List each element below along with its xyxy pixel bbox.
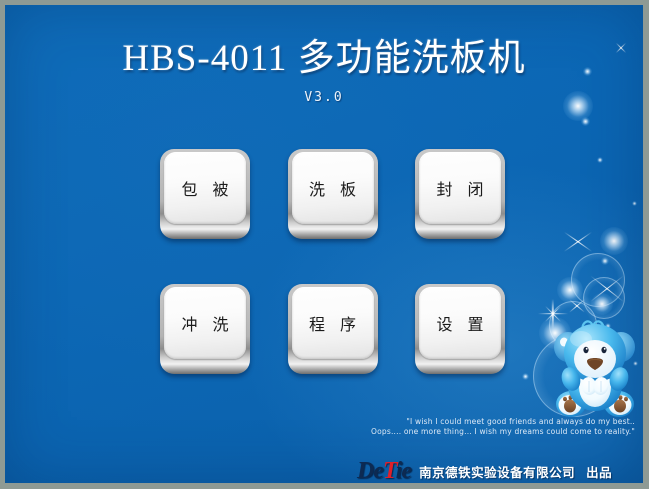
bubble-ring-icon	[571, 253, 625, 307]
bubble-glow-icon	[557, 277, 583, 303]
main-menu-grid: 包 被 洗 板 封 闭 冲 洗	[160, 149, 505, 374]
button-cap: 包 被	[164, 152, 246, 224]
coating-button[interactable]: 包 被	[160, 149, 250, 239]
settings-button[interactable]: 设 置	[415, 284, 505, 374]
menu-row-top: 包 被 洗 板 封 闭	[160, 149, 505, 239]
bubble-glow-icon	[522, 373, 529, 380]
decorative-quote: "I wish I could meet good friends and al…	[335, 417, 635, 437]
button-cap: 封 闭	[419, 152, 501, 224]
bubble-glow-icon	[605, 323, 611, 329]
wash-button-label: 洗 板	[304, 176, 361, 200]
button-cap: 设 置	[419, 287, 501, 359]
coating-button-label: 包 被	[176, 176, 233, 200]
page-title: HBS-4011 多功能洗板机	[5, 37, 643, 81]
bubble-glow-icon	[601, 257, 609, 265]
bubble-glow-icon	[591, 293, 613, 315]
splash-screen: HBS-4011 多功能洗板机 V3.0 包 被 洗 板 封 闭	[5, 5, 643, 483]
logo-t-text: T	[383, 458, 396, 483]
bubble-ring-icon	[583, 277, 625, 319]
wash-button[interactable]: 洗 板	[288, 149, 378, 239]
rinse-button[interactable]: 冲 洗	[160, 284, 250, 374]
button-cap: 程 序	[292, 287, 374, 359]
button-cap: 冲 洗	[164, 287, 246, 359]
company-suffix: 出品	[586, 462, 612, 481]
bubble-ring-icon	[549, 301, 597, 349]
bubble-glow-icon	[539, 317, 571, 349]
application-window: HBS-4011 多功能洗板机 V3.0 包 被 洗 板 封 闭	[0, 0, 649, 489]
program-button[interactable]: 程 序	[288, 284, 378, 374]
bubble-glow-icon	[597, 157, 603, 163]
title-block: HBS-4011 多功能洗板机 V3.0	[5, 37, 643, 105]
rinse-button-label: 冲 洗	[176, 311, 233, 335]
footer-brand: DeTie 南京德铁实验设备有限公司 出品	[357, 457, 637, 483]
quote-line-1: "I wish I could meet good friends and al…	[335, 417, 635, 427]
company-name: 南京德铁实验设备有限公司	[419, 462, 575, 481]
blocking-button-label: 封 闭	[431, 176, 488, 200]
sparkle-icon	[552, 313, 553, 314]
logo-ie-text: ie	[396, 458, 411, 483]
bubble-glow-icon	[633, 361, 638, 366]
settings-button-label: 设 置	[431, 311, 488, 335]
bubble-ring-icon	[533, 335, 615, 417]
detie-logo: DeTie	[357, 458, 411, 483]
blocking-button[interactable]: 封 闭	[415, 149, 505, 239]
bubble-glow-icon	[581, 117, 590, 126]
sparkle-icon	[577, 241, 578, 242]
sparkle-icon	[606, 288, 607, 289]
version-label: V3.0	[5, 90, 643, 105]
bubble-glow-icon	[566, 335, 573, 342]
menu-row-bottom: 冲 洗 程 序 设 置	[160, 284, 505, 374]
bubble-glow-icon	[632, 201, 637, 206]
bubble-glow-icon	[600, 227, 628, 255]
teddy-bear-mascot-icon	[543, 305, 643, 421]
sparkle-icon	[576, 305, 577, 306]
button-cap: 洗 板	[292, 152, 374, 224]
logo-de-text: De	[357, 458, 383, 483]
program-button-label: 程 序	[304, 311, 361, 335]
quote-line-2: Oops.... one more thing... I wish my dre…	[335, 427, 635, 437]
